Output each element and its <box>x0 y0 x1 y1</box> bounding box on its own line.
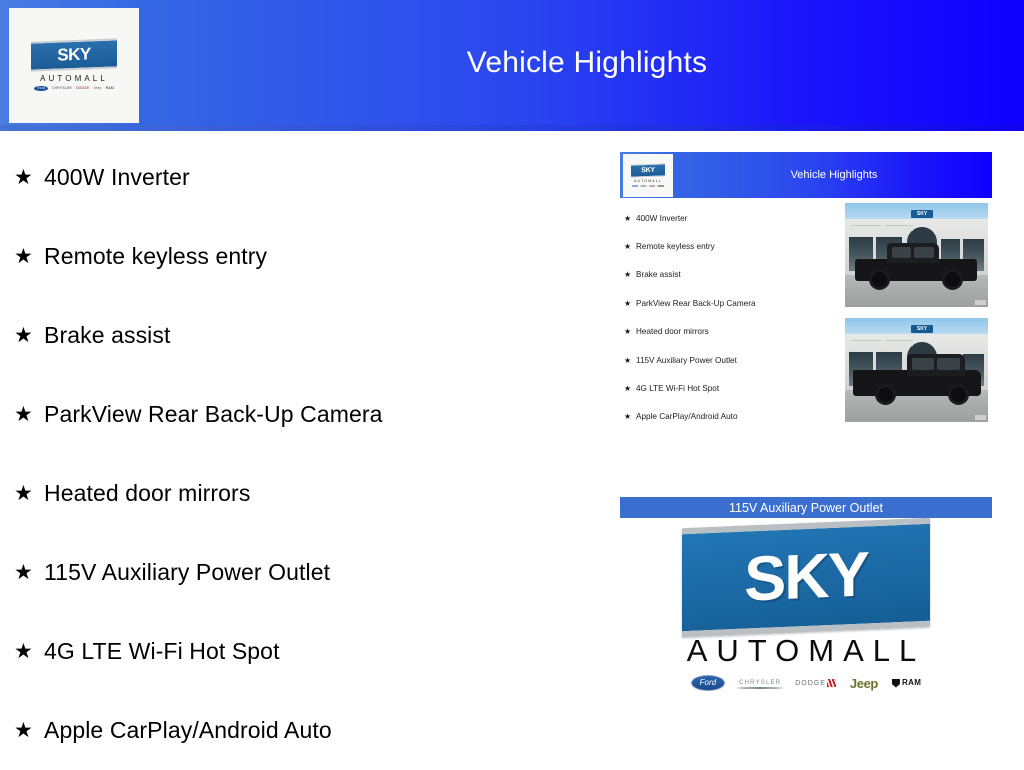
list-item-label: 400W Inverter <box>44 164 190 191</box>
ram-shield-icon <box>892 679 900 688</box>
list-item-label: 4G LTE Wi-Fi Hot Spot <box>44 638 280 665</box>
thumbnail-list-item: ★ ParkView Rear Back-Up Camera <box>624 289 842 317</box>
chrysler-logo-icon: CHRYSLER <box>52 87 72 90</box>
list-item: ★ Heated door mirrors <box>0 454 600 533</box>
large-automall-wordmark: AUTOMALL <box>687 635 926 666</box>
feature-partner-brand-row: Ford CHRYSLER DODGE Jeep RAM <box>691 675 922 691</box>
dodge-stripes-icon <box>827 679 836 687</box>
truck-wheel <box>875 384 896 405</box>
thumbnail-list-item: ★ Apple CarPlay/Android Auto <box>624 403 842 431</box>
ram-label: RAM <box>902 679 921 687</box>
highlights-list: ★ 400W Inverter ★ Remote keyless entry ★… <box>0 138 600 770</box>
star-bullet-icon: ★ <box>624 214 636 223</box>
vehicle-photo-rear[interactable] <box>845 318 988 422</box>
star-bullet-icon: ★ <box>624 384 636 393</box>
thumbnail-list-item-label: 400W Inverter <box>636 214 687 223</box>
dodge-logo-icon: DODGE <box>76 87 89 90</box>
star-bullet-icon: ★ <box>624 412 636 421</box>
banner <box>851 340 881 346</box>
list-item: ★ Remote keyless entry <box>0 217 600 296</box>
large-sky-wordmark: SKY <box>744 543 868 611</box>
truck-window <box>912 358 934 370</box>
thumbnail-list-item-label: ParkView Rear Back-Up Camera <box>636 299 756 308</box>
thumbnail-list-item: ★ 115V Auxiliary Power Outlet <box>624 346 842 374</box>
thumbnail-list-item-label: 115V Auxiliary Power Outlet <box>636 356 737 365</box>
list-item-label: Remote keyless entry <box>44 243 267 270</box>
star-bullet-icon: ★ <box>624 242 636 251</box>
automall-wordmark: AUTOMALL <box>40 74 108 83</box>
jeep-logo-icon: Jeep <box>850 677 878 690</box>
list-item: ★ 4G LTE Wi-Fi Hot Spot <box>0 612 600 691</box>
star-bullet-icon: ★ <box>14 404 44 425</box>
vehicle-photo-side[interactable] <box>845 203 988 307</box>
dealership-sky-sign <box>911 210 933 218</box>
dealership-sky-sign <box>911 325 933 333</box>
thumbnail-list-item: ★ Remote keyless entry <box>624 232 842 260</box>
star-bullet-icon: ★ <box>14 167 44 188</box>
chrysler-logo-icon: CHRYSLER <box>739 680 781 686</box>
list-item: ★ Brake assist <box>0 296 600 375</box>
thumbnail-list-item-label: Heated door mirrors <box>636 327 709 336</box>
ram-logo-icon: RAM <box>106 87 114 90</box>
thumbnail-title: Vehicle Highlights <box>676 152 992 198</box>
list-item-label: Brake assist <box>44 322 170 349</box>
star-bullet-icon: ★ <box>624 299 636 308</box>
thumbnail-logo-stack: SKY AUTOMALL <box>628 164 668 187</box>
list-item-label: 115V Auxiliary Power Outlet <box>44 559 330 586</box>
banner <box>885 225 913 231</box>
thumbnail-sky-wordmark: SKY <box>641 167 655 175</box>
star-bullet-icon: ★ <box>14 483 44 504</box>
large-sky-plaque-wrapper: SKY <box>678 524 934 631</box>
sky-wordmark: SKY <box>57 44 90 65</box>
thumbnail-list-item: ★ Brake assist <box>624 261 842 289</box>
list-item: ★ Apple CarPlay/Android Auto <box>0 691 600 770</box>
truck-wheel <box>869 269 890 290</box>
slide-header: SKY AUTOMALL Ford CHRYSLER DODGE Jeep RA… <box>0 0 1024 131</box>
ram-logo-icon: RAM <box>892 679 921 688</box>
truck-window <box>914 247 934 258</box>
truck-wheel <box>948 384 969 405</box>
slide-thumbnail[interactable]: SKY AUTOMALL Vehicle Highlights ★ 400W I… <box>620 152 992 430</box>
large-sky-plaque-icon: SKY <box>682 518 930 637</box>
thumbnail-header: SKY AUTOMALL Vehicle Highlights <box>620 152 992 198</box>
star-bullet-icon: ★ <box>624 356 636 365</box>
partner-brand-row: Ford CHRYSLER DODGE Jeep RAM <box>34 86 114 91</box>
feature-caption: 115V Auxiliary Power Outlet <box>620 497 992 518</box>
thumbnail-partner-brand-row <box>632 185 664 187</box>
header-underline <box>0 125 1024 131</box>
list-item-label: ParkView Rear Back-Up Camera <box>44 401 383 428</box>
thumbnail-list-item-label: 4G LTE Wi-Fi Hot Spot <box>636 384 719 393</box>
page-title: Vehicle Highlights <box>150 0 1024 125</box>
ford-logo-icon: Ford <box>34 86 48 91</box>
list-item-label: Heated door mirrors <box>44 480 250 507</box>
thumbnail-list-item: ★ 4G LTE Wi-Fi Hot Spot <box>624 374 842 402</box>
thumbnail-list-item-label: Brake assist <box>636 270 681 279</box>
star-bullet-icon: ★ <box>14 325 44 346</box>
jeep-logo-icon: Jeep <box>93 87 101 90</box>
star-bullet-icon: ★ <box>14 562 44 583</box>
list-item-label: Apple CarPlay/Android Auto <box>44 717 332 744</box>
star-bullet-icon: ★ <box>14 246 44 267</box>
feature-image-panel[interactable]: 115V Auxiliary Power Outlet SKY AUTOMALL… <box>620 497 992 702</box>
list-item: ★ 400W Inverter <box>0 138 600 217</box>
brand-logo-stack: SKY AUTOMALL Ford CHRYSLER DODGE Jeep RA… <box>20 40 128 91</box>
truck-window <box>892 247 911 258</box>
thumbnail-brand-logo: SKY AUTOMALL <box>623 154 673 197</box>
thumbnail-list-item: ★ Heated door mirrors <box>624 318 842 346</box>
thumbnail-list-item-label: Remote keyless entry <box>636 242 715 251</box>
ford-logo-icon: Ford <box>691 675 725 691</box>
brand-logo: SKY AUTOMALL Ford CHRYSLER DODGE Jeep RA… <box>9 8 139 123</box>
banner <box>851 225 881 231</box>
star-bullet-icon: ★ <box>14 641 44 662</box>
list-item: ★ ParkView Rear Back-Up Camera <box>0 375 600 454</box>
dodge-label: DODGE <box>795 680 826 687</box>
thumbnail-highlights-list: ★ 400W Inverter ★ Remote keyless entry ★… <box>624 204 842 431</box>
thumbnail-list-item: ★ 400W Inverter <box>624 204 842 232</box>
banner <box>885 340 913 346</box>
thumbnail-list-item-label: Apple CarPlay/Android Auto <box>636 412 738 421</box>
truck-window <box>937 358 960 370</box>
photo-watermark <box>975 415 986 420</box>
sky-plaque-icon: SKY <box>31 38 117 71</box>
star-bullet-icon: ★ <box>14 720 44 741</box>
thumbnail-automall-wordmark: AUTOMALL <box>634 179 662 183</box>
photo-watermark <box>975 300 986 305</box>
truck-wheel <box>942 269 963 290</box>
feature-image-body: SKY AUTOMALL Ford CHRYSLER DODGE Jeep RA… <box>620 518 992 708</box>
star-bullet-icon: ★ <box>624 270 636 279</box>
star-bullet-icon: ★ <box>624 327 636 336</box>
list-item: ★ 115V Auxiliary Power Outlet <box>0 533 600 612</box>
thumbnail-sky-plaque-icon: SKY <box>631 164 665 178</box>
dodge-logo-icon: DODGE <box>795 679 836 687</box>
